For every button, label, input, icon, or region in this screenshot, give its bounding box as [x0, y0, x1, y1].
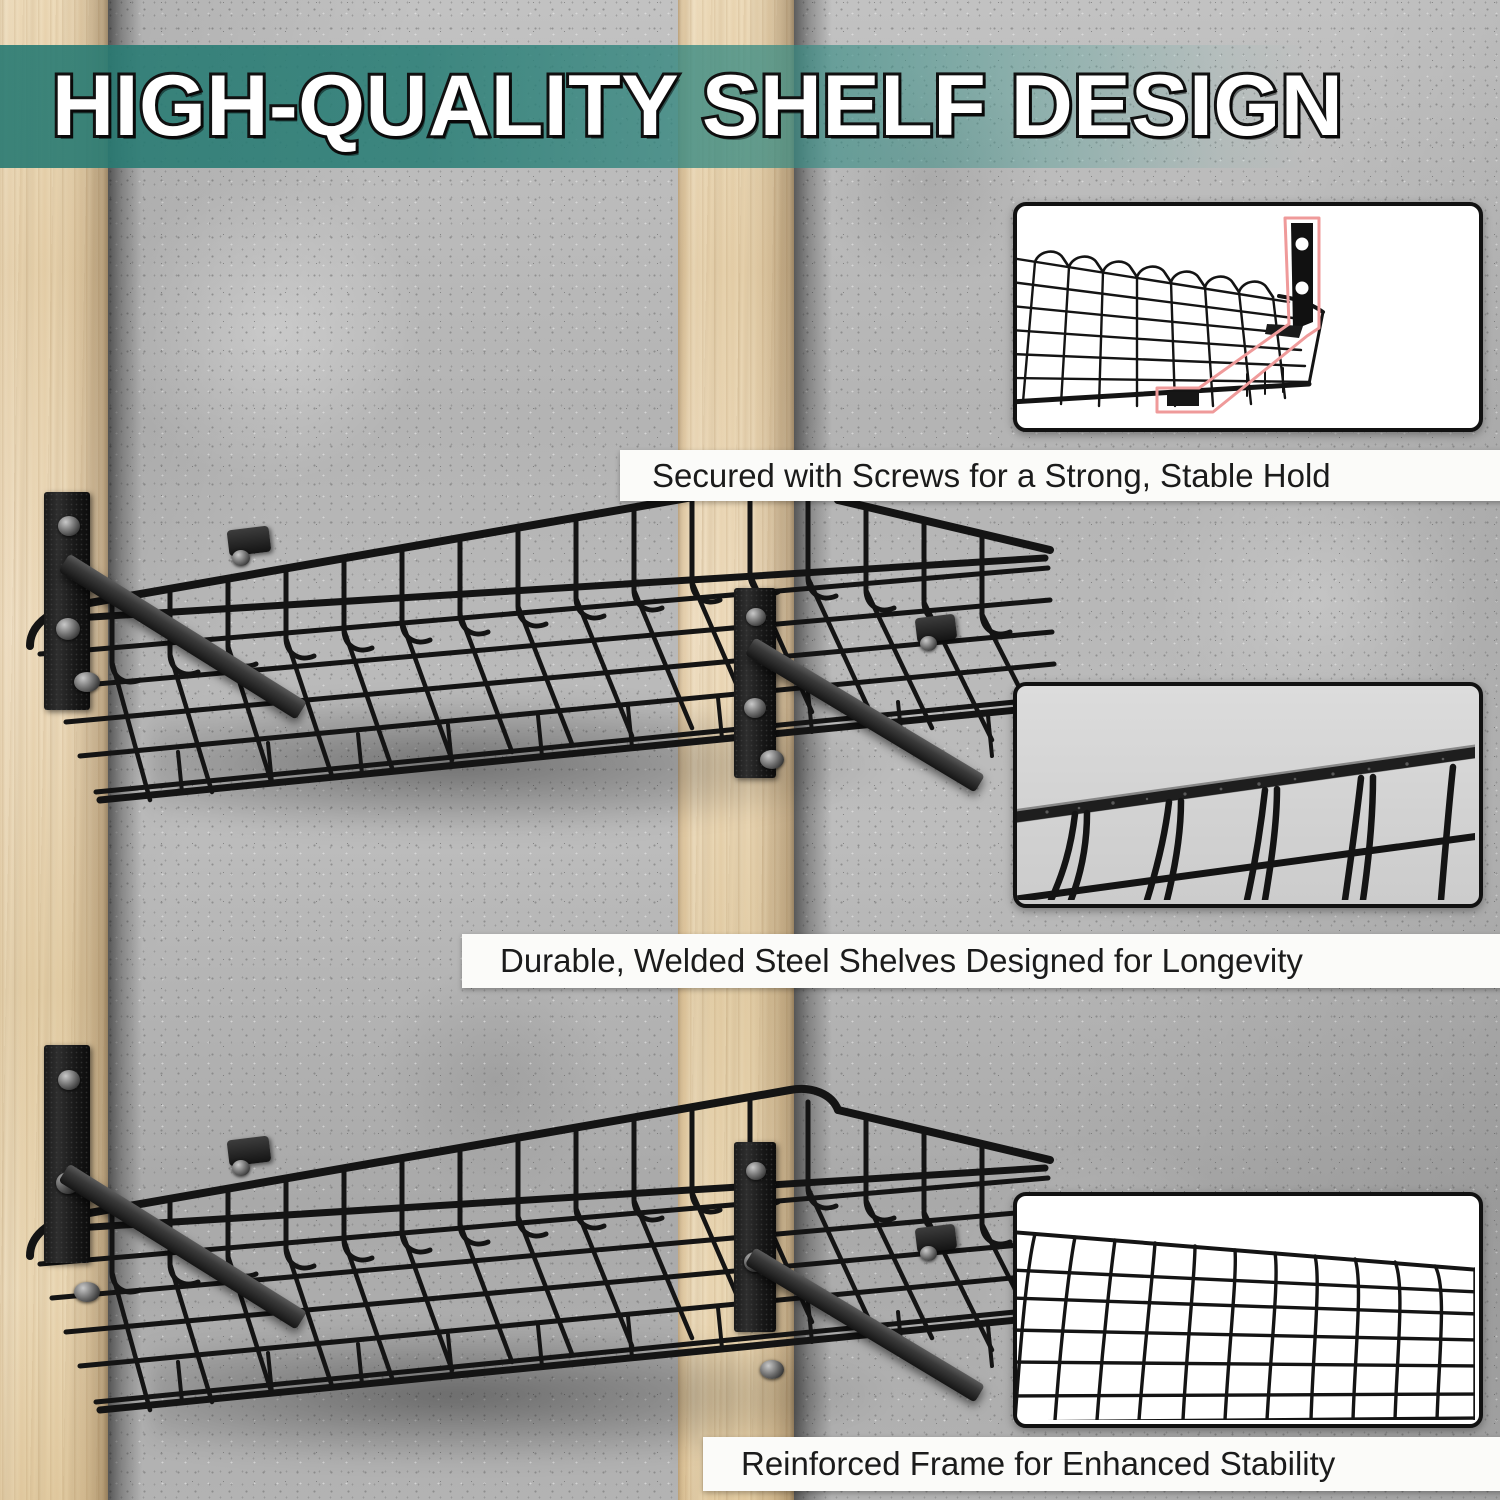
inset-mesh-illustration: [1017, 1196, 1475, 1420]
shelf-lower-endcap-bolt-right: [920, 1246, 937, 1261]
shelf-lower-arm-bolt-right: [760, 1360, 784, 1379]
shelf-upper-bolt-right-top: [746, 608, 766, 626]
shelf-lower-arm-bolt-left: [74, 1282, 100, 1302]
shelf-upper-bolt-left-bottom: [56, 618, 80, 640]
inset-mesh-detail: [1013, 1192, 1483, 1428]
inset-bracket-illustration: [1017, 206, 1475, 424]
caption-welded: Durable, Welded Steel Shelves Designed f…: [462, 934, 1500, 988]
shelf-upper-bolt-right-bottom: [744, 698, 766, 718]
inset-bracket-hole-top: [1296, 238, 1309, 251]
inset-bracket-detail: [1013, 202, 1483, 432]
shelf-lower: [0, 1050, 1070, 1420]
caption-screws-text: Secured with Screws for a Strong, Stable…: [652, 457, 1331, 495]
product-marketing-image: HIGH-QUALITY SHELF DESIGN: [0, 0, 1500, 1500]
caption-welded-text: Durable, Welded Steel Shelves Designed f…: [500, 942, 1303, 980]
caption-screws: Secured with Screws for a Strong, Stable…: [620, 450, 1500, 501]
shelf-upper-arm-bolt-right: [760, 750, 784, 769]
inset-bracket-hole-bottom: [1296, 282, 1309, 295]
caption-reinforce-text: Reinforced Frame for Enhanced Stability: [741, 1445, 1335, 1483]
caption-reinforce: Reinforced Frame for Enhanced Stability: [703, 1437, 1500, 1491]
shelf-upper-bolt-left-top: [58, 516, 80, 536]
inset-weld-illustration: [1017, 686, 1475, 900]
shelf-lower-bolt-right-top: [746, 1162, 766, 1180]
shelf-lower-endcap-bolt-left: [232, 1160, 250, 1176]
shelf-upper-endcap-bolt-left: [232, 550, 250, 566]
shelf-lower-bolt-left-top: [58, 1070, 80, 1090]
shelf-upper-endcap-bolt-right: [920, 636, 937, 651]
shelf-upper-arm-bolt-left: [74, 672, 100, 692]
page-title: HIGH-QUALITY SHELF DESIGN: [52, 56, 1343, 156]
inset-weld-detail: [1013, 682, 1483, 908]
